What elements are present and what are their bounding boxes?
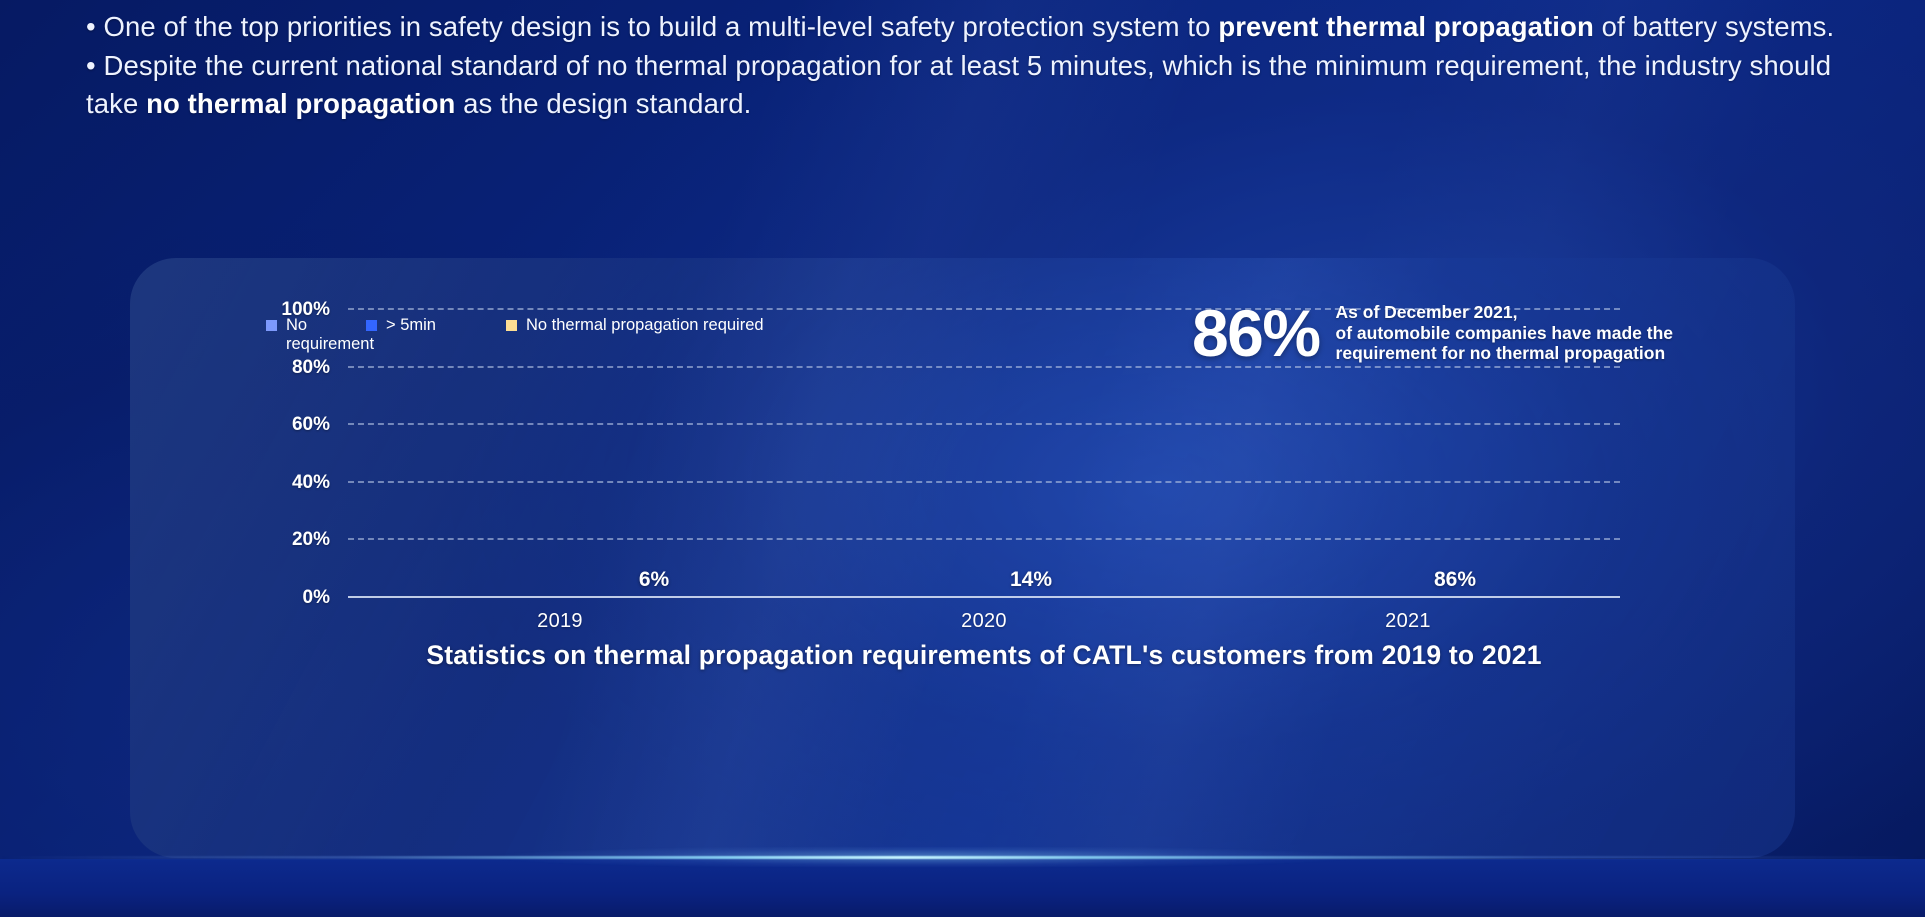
legend-label-0: No requirement	[286, 316, 374, 354]
x-axis-tick-2020: 2020	[772, 610, 1196, 633]
y-axis-tick-20: 20%	[292, 529, 330, 551]
bottom-glow-divider	[0, 856, 1925, 859]
chart-x-axis-line	[348, 596, 1620, 598]
bottom-band	[0, 859, 1925, 917]
callout-description: As of December 2021, of automobile compa…	[1336, 302, 1673, 364]
legend-label-2: No thermal propagation required	[526, 316, 764, 335]
y-axis-tick-80: 80%	[292, 357, 330, 379]
callout-block: 86% As of December 2021, of automobile c…	[1192, 300, 1673, 366]
y-axis-tick-40: 40%	[292, 472, 330, 494]
bullet-1-marker: •	[86, 11, 96, 42]
bullet-2-text-c: as the design standard.	[455, 88, 751, 119]
legend-item-2[interactable]: No thermal propagation required	[506, 316, 764, 335]
bullet-1-text-bold: prevent thermal propagation	[1218, 11, 1594, 42]
bullet-text-block: • One of the top priorities in safety de…	[86, 8, 1866, 124]
bar-value-label-2019: 6%	[639, 568, 669, 592]
legend-swatch-icon-1	[366, 320, 377, 331]
x-axis-tick-2021: 2021	[1196, 610, 1620, 633]
bullet-1: • One of the top priorities in safety de…	[86, 8, 1866, 47]
slide-background: • One of the top priorities in safety de…	[0, 0, 1925, 917]
legend-swatch-icon-0	[266, 320, 277, 331]
legend-item-1[interactable]: > 5min	[366, 316, 506, 335]
x-axis-tick-2019: 2019	[348, 610, 772, 633]
bar-value-label-2021: 86%	[1434, 568, 1476, 592]
callout-percentage: 86%	[1192, 300, 1320, 366]
bullet-1-text-c: of battery systems.	[1594, 11, 1834, 42]
bullet-2-marker: •	[86, 50, 96, 81]
chart-card: No requirement> 5minNo thermal propagati…	[130, 258, 1795, 858]
bullet-1-text-a: One of the top priorities in safety desi…	[103, 11, 1218, 42]
bar-group-2020: 14%2020	[772, 310, 1196, 598]
legend-item-0[interactable]: No requirement	[266, 316, 366, 354]
legend-swatch-icon-2	[506, 320, 517, 331]
legend-label-1: > 5min	[386, 316, 436, 335]
bullet-2: • Despite the current national standard …	[86, 47, 1866, 124]
y-axis-tick-60: 60%	[292, 414, 330, 436]
y-axis-tick-0: 0%	[303, 587, 330, 609]
chart-title: Statistics on thermal propagation requir…	[348, 640, 1620, 671]
chart-legend: No requirement> 5minNo thermal propagati…	[266, 316, 764, 354]
bar-value-label-2020: 14%	[1010, 568, 1052, 592]
bullet-2-text-bold: no thermal propagation	[146, 88, 455, 119]
